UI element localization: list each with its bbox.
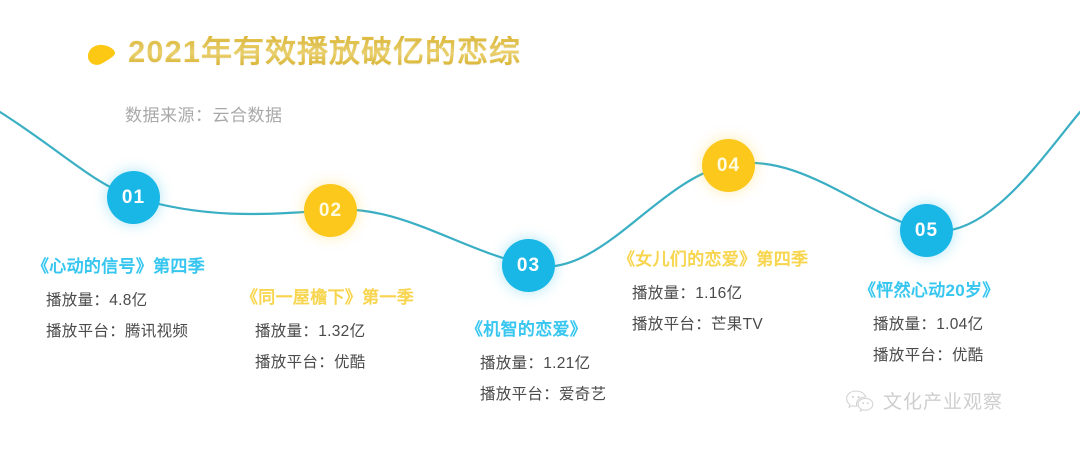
node-number-03: 03 [517, 255, 540, 277]
item-views-04: 播放量：1.16亿 [618, 281, 808, 303]
item-title-04: 《女儿们的恋爱》第四季 [618, 245, 808, 270]
wechat-icon [845, 389, 875, 413]
leaf-icon [86, 44, 116, 66]
item-label-01: 《心动的信号》第四季 播放量：4.8亿 播放平台：腾讯视频 [32, 252, 205, 350]
node-number-02: 02 [319, 200, 342, 222]
item-label-04: 《女儿们的恋爱》第四季 播放量：1.16亿 播放平台：芒果TV [618, 245, 808, 343]
header: 2021年有效播放破亿的恋综 [86, 36, 521, 67]
item-views-05: 播放量：1.04亿 [859, 312, 1000, 334]
page-title: 2021年有效播放破亿的恋综 [128, 36, 521, 67]
item-label-03: 《机智的恋爱》 播放量：1.21亿 播放平台：爱奇艺 [466, 315, 606, 413]
watermark: 文化产业观察 [845, 387, 1003, 414]
node-number-05: 05 [915, 220, 938, 242]
node-number-01: 01 [122, 187, 145, 209]
item-platform-03: 播放平台：爱奇艺 [466, 382, 606, 404]
node-circle-04[interactable]: 04 [702, 139, 755, 192]
infographic-canvas: 2021年有效播放破亿的恋综 数据来源：云合数据 01 02 03 04 05 … [0, 0, 1080, 455]
node-number-04: 04 [717, 155, 740, 177]
item-title-01: 《心动的信号》第四季 [32, 252, 205, 277]
node-circle-05[interactable]: 05 [900, 204, 953, 257]
item-title-05: 《怦然心动20岁》 [859, 276, 1000, 301]
item-platform-02: 播放平台：优酷 [241, 350, 414, 372]
item-label-02: 《同一屋檐下》第一季 播放量：1.32亿 播放平台：优酷 [241, 283, 414, 381]
data-source-label: 数据来源：云合数据 [125, 101, 283, 126]
item-title-03: 《机智的恋爱》 [466, 315, 606, 340]
item-views-01: 播放量：4.8亿 [32, 288, 205, 310]
item-platform-01: 播放平台：腾讯视频 [32, 319, 205, 341]
node-circle-02[interactable]: 02 [304, 184, 357, 237]
item-platform-05: 播放平台：优酷 [859, 343, 1000, 365]
item-platform-04: 播放平台：芒果TV [618, 312, 808, 334]
item-label-05: 《怦然心动20岁》 播放量：1.04亿 播放平台：优酷 [859, 276, 1000, 374]
item-views-02: 播放量：1.32亿 [241, 319, 414, 341]
item-views-03: 播放量：1.21亿 [466, 351, 606, 373]
item-title-02: 《同一屋檐下》第一季 [241, 283, 414, 308]
node-circle-01[interactable]: 01 [107, 171, 160, 224]
node-circle-03[interactable]: 03 [502, 239, 555, 292]
watermark-text: 文化产业观察 [883, 387, 1003, 414]
